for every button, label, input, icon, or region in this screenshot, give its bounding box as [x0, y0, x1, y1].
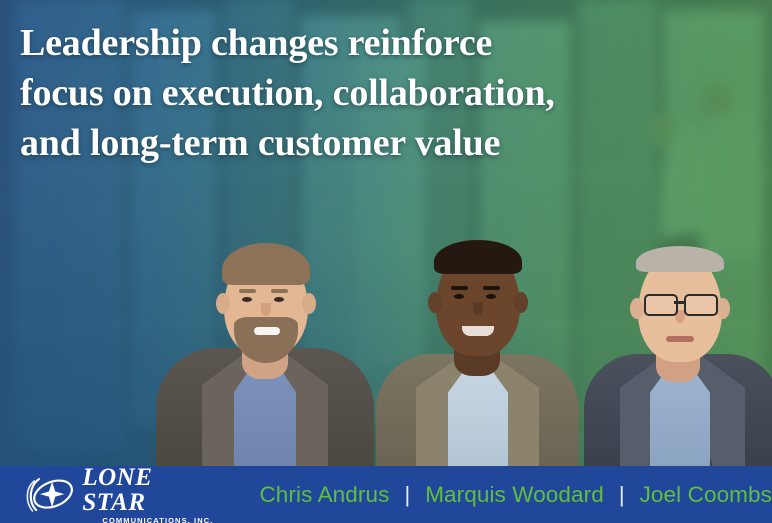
presenter-name-1: Chris Andrus [259, 482, 389, 508]
chris-andrus-portrait [150, 221, 380, 466]
brand-bar: LONE STAR COMMUNICATIONS, INC. Chris And… [0, 466, 772, 523]
eyeglasses-icon [684, 294, 718, 316]
headline-line-2: focus on execution, collaboration, [20, 68, 750, 118]
promo-banner: Leadership changes reinforce focus on ex… [0, 0, 772, 523]
presenter-name-3: Joel Coombs [640, 482, 772, 508]
lone-star-logo[interactable]: LONE STAR COMMUNICATIONS, INC. [24, 465, 213, 523]
marquis-woodard-portrait [370, 218, 585, 466]
headline: Leadership changes reinforce focus on ex… [20, 18, 750, 168]
name-separator: | [619, 482, 625, 508]
headline-line-1: Leadership changes reinforce [20, 18, 750, 68]
name-separator: | [404, 482, 410, 508]
joel-coombs-portrait [580, 226, 772, 466]
lone-star-orbit-star-icon [24, 475, 78, 515]
presenter-name-2: Marquis Woodard [425, 482, 604, 508]
headline-line-3: and long-term customer value [20, 118, 750, 168]
eyeglasses-icon [644, 294, 678, 316]
logo-tagline: COMMUNICATIONS, INC. [82, 517, 213, 523]
presenter-names: Chris Andrus | Marquis Woodard | Joel Co… [259, 482, 772, 508]
logo-wordmark: LONE STAR [82, 465, 213, 515]
